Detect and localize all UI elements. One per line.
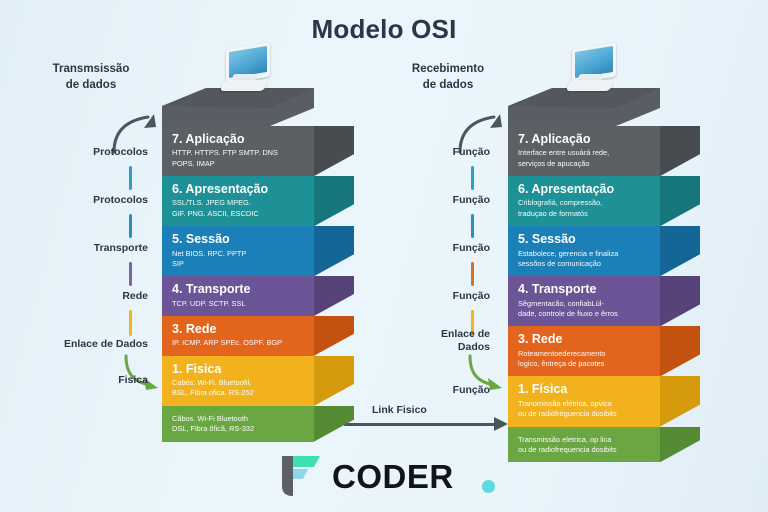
link-fisico-line xyxy=(344,423,496,426)
left-flow-title-line2: de dados xyxy=(18,78,164,94)
right-flow-title: Recebimento de dados xyxy=(392,62,504,93)
osi-layer[interactable]: 5. SessãoNet BIOS. RPC. PPTPSIP xyxy=(162,226,378,276)
left-connector-2 xyxy=(129,214,132,238)
link-fisico-group: Link Fisico xyxy=(344,406,512,430)
layer-name: 7. Aplicação xyxy=(172,132,304,146)
layer-description: HTTP. HTTPS. FTP SMTP. DNSPOPS. IMAP xyxy=(172,148,304,169)
osi-layer[interactable]: 1. FisicaCabós: Wi-Fi. Bluetoofil,BSL, F… xyxy=(162,356,378,406)
right-osi-stack: 7. AplicaçãoInterface entre usuàrá rede,… xyxy=(508,88,724,462)
left-connector-3 xyxy=(129,262,132,286)
layer-description-line: Estabolece, gerencia e finaliza xyxy=(518,249,650,259)
layer-front-face: 3. RedeRoteamentoederecamentologico, ênt… xyxy=(508,326,660,376)
layer-front-face: Transmissão eletrica, op licaou de radio… xyxy=(508,427,660,463)
layer-name: 3. Rede xyxy=(172,322,304,336)
layer-front-face: 7. AplicaçãoInterface entre usuàrá rede,… xyxy=(508,126,660,176)
layer-name: 3. Rede xyxy=(518,332,650,346)
right-label-enlace-line1: Enlace de xyxy=(384,328,490,341)
layer-description: Estabolece, gerencia e finalizasessõos d… xyxy=(518,249,650,270)
left-stack-cap xyxy=(162,88,314,126)
osi-layer[interactable]: 5. SessãoEstabolece, gerencia e finaliza… xyxy=(508,226,724,276)
layer-description-line: POPS. IMAP xyxy=(172,159,304,169)
right-flow-title-line1: Recebimento xyxy=(392,62,504,78)
left-label-protocolos-1: Protocolos xyxy=(0,146,148,159)
layer-name: 5. Sessão xyxy=(172,232,304,246)
layer-description-line: Transmissão eletrica, op lica xyxy=(518,435,650,445)
layer-side-face xyxy=(660,427,700,463)
right-connector-3 xyxy=(471,262,474,286)
layer-side-face xyxy=(660,326,700,376)
layer-name: 6. Apresentação xyxy=(172,182,304,196)
layer-front-face: 1. FisicaCabós: Wi-Fi. Bluetoofil,BSL, F… xyxy=(162,356,314,406)
monitor-icon xyxy=(218,46,276,96)
layer-description-line: dade, controle de fiuxo e êrros xyxy=(518,309,650,319)
layer-description-line: IP. ICMP. ARP SPEc. OSPF. BGP xyxy=(172,338,304,348)
layer-name: 6. Apresentação xyxy=(518,182,650,196)
layer-side-face xyxy=(314,356,354,406)
layer-description-line: ou de radiofrequencia dosibits xyxy=(518,445,650,455)
right-label-enlace-line2: Dados xyxy=(384,341,490,354)
layer-side-face xyxy=(314,226,354,276)
layer-name: 7. Aplicação xyxy=(518,132,650,146)
layer-description-line: logico, êntreça de pacotes xyxy=(518,359,650,369)
logo-text: CODER xyxy=(332,458,454,496)
layer-description-line: Criblografiá, compressão, xyxy=(518,198,650,208)
osi-layer[interactable]: 6. ApresentaçãoSSL/TLS. JPEG MPEG.GIF. P… xyxy=(162,176,378,226)
osi-layer[interactable]: 4. TransporteTCP. UDP. SCTP. SSL xyxy=(162,276,378,316)
right-label-funcao-5: Função xyxy=(384,384,490,397)
layer-side-face xyxy=(660,176,700,226)
osi-layer[interactable]: Transmissão eletrica, op licaou de radio… xyxy=(508,427,724,463)
page-title: Modelo OSI xyxy=(0,14,768,45)
left-label-rede: Rede xyxy=(0,290,148,303)
layer-name: 4. Transporte xyxy=(518,282,650,296)
layer-side-face xyxy=(314,316,354,356)
layer-description-line: TCP. UDP. SCTP. SSL xyxy=(172,299,304,309)
layer-name: 5. Sessão xyxy=(518,232,650,246)
layer-description: Cabós: Wi-Fi. Bluetoofil,BSL, Fibra ofic… xyxy=(172,378,304,399)
layer-description-line: Cãbos. Wi-Fi Bluetooth xyxy=(172,414,304,424)
osi-layer[interactable]: 1. FísicaTranomissão elétrica, opvicaou … xyxy=(508,376,724,426)
layer-description: Cãbos. Wi-Fi BluetoothDSL, Fibra õficã, … xyxy=(172,414,304,435)
layer-description-line: ou de radiófréguencia dosibits xyxy=(518,409,650,419)
layer-description: IP. ICMP. ARP SPEc. OSPF. BGP xyxy=(172,338,304,348)
osi-layer[interactable]: 7. AplicaçãoInterface entre usuàrá rede,… xyxy=(508,126,724,176)
layer-side-face xyxy=(660,276,700,326)
layer-description: Sêgmentacão, confiabLùl-dade, controle d… xyxy=(518,299,650,320)
right-stack-cap xyxy=(508,88,660,126)
osi-layer[interactable]: 3. RedeRoteamentoederecamentologico, ênt… xyxy=(508,326,724,376)
right-label-funcao-1: Função xyxy=(384,146,490,159)
osi-layer[interactable]: 3. RedeIP. ICMP. ARP SPEc. OSPF. BGP xyxy=(162,316,378,356)
osi-layer[interactable]: 6. ApresentaçãoCriblografiá, compressão,… xyxy=(508,176,724,226)
right-connector-2 xyxy=(471,214,474,238)
left-label-transporte: Transporte xyxy=(0,242,148,255)
layer-description: Transmissão eletrica, op licaou de radio… xyxy=(518,435,650,456)
right-connector-1 xyxy=(471,166,474,190)
layer-side-face xyxy=(660,376,700,426)
layer-description-line: HTTP. HTTPS. FTP SMTP. DNS xyxy=(172,148,304,158)
monitor-base xyxy=(566,80,615,91)
layer-description: Criblografiá, compressão,traduçao de for… xyxy=(518,198,650,219)
right-flow-title-line2: de dados xyxy=(392,78,504,94)
right-label-funcao-4: Função xyxy=(384,290,490,303)
right-label-enlace-de-dados: Enlace de Dados xyxy=(384,328,490,354)
left-label-protocolos-2: Protocolos xyxy=(0,194,148,207)
left-connector-4 xyxy=(129,310,132,336)
osi-layer[interactable]: Cãbos. Wi-Fi BluetoothDSL, Fibra õficã, … xyxy=(162,406,378,442)
layer-description: Interface entre usuàrá rede,serviços de … xyxy=(518,148,650,169)
right-label-funcao-2: Função xyxy=(384,194,490,207)
layer-description-line: Net BIOS. RPC. PPTP xyxy=(172,249,304,259)
layer-front-face: 3. RedeIP. ICMP. ARP SPEc. OSPF. BGP xyxy=(162,316,314,356)
left-layer-list: 7. AplicaçãoHTTP. HTTPS. FTP SMTP. DNSPO… xyxy=(162,126,378,442)
layer-front-face: Cãbos. Wi-Fi BluetoothDSL, Fibra õficã, … xyxy=(162,406,314,442)
layer-side-face xyxy=(314,276,354,316)
layer-description-line: Roteamentoederecamento xyxy=(518,349,650,359)
layer-description-line: traduçao de formatós xyxy=(518,209,650,219)
layer-front-face: 5. SessãoNet BIOS. RPC. PPTPSIP xyxy=(162,226,314,276)
layer-description: TCP. UDP. SCTP. SSL xyxy=(172,299,304,309)
monitor-base xyxy=(220,80,269,91)
left-flow-title: Transmsissão de dados xyxy=(18,62,164,93)
layer-front-face: 1. FísicaTranomissão elétrica, opvicaou … xyxy=(508,376,660,426)
layer-side-face xyxy=(314,176,354,226)
layer-front-face: 5. SessãoEstabolece, gerencia e finaliza… xyxy=(508,226,660,276)
right-label-funcao-3: Função xyxy=(384,242,490,255)
layer-description: Net BIOS. RPC. PPTPSIP xyxy=(172,249,304,270)
layer-description: Tranomissão elétrica, opvicaou de radióf… xyxy=(518,399,650,420)
brand-logo[interactable]: CODER xyxy=(276,452,506,500)
layer-side-face xyxy=(314,126,354,176)
layer-description: Roteamentoederecamentologico, êntreça de… xyxy=(518,349,650,370)
layer-front-face: 4. TransporteSêgmentacão, confiabLùl-dad… xyxy=(508,276,660,326)
layer-name: 4. Transporte xyxy=(172,282,304,296)
layer-description: SSL/TLS. JPEG MPEG.GIF. PNG. ASCII, ESCD… xyxy=(172,198,304,219)
arrow-right-icon xyxy=(494,417,508,431)
osi-layer[interactable]: 7. AplicaçãoHTTP. HTTPS. FTP SMTP. DNSPO… xyxy=(162,126,378,176)
left-connector-1 xyxy=(129,166,132,190)
right-layer-list: 7. AplicaçãoInterface entre usuàrá rede,… xyxy=(508,126,724,462)
layer-description-line: Interface entre usuàrá rede, xyxy=(518,148,650,158)
layer-side-face xyxy=(660,126,700,176)
left-label-enlace-de-dados: Enlace de Dados xyxy=(0,338,148,351)
logo-dot xyxy=(482,480,495,493)
layer-side-face xyxy=(660,226,700,276)
layer-front-face: 7. AplicaçãoHTTP. HTTPS. FTP SMTP. DNSPO… xyxy=(162,126,314,176)
layer-description-line: serviços de apucação xyxy=(518,159,650,169)
layer-front-face: 4. TransporteTCP. UDP. SCTP. SSL xyxy=(162,276,314,316)
right-flow-column: Recebimento de dados xyxy=(392,62,504,93)
fcoder-f-mark-icon xyxy=(276,454,322,498)
link-fisico-label: Link Fisico xyxy=(372,404,427,416)
monitor-icon xyxy=(564,46,622,96)
layer-description-line: GIF. PNG. ASCII, ESCDIC xyxy=(172,209,304,219)
layer-description-line: Cabós: Wi-Fi. Bluetoofil, xyxy=(172,378,304,388)
left-osi-stack: 7. AplicaçãoHTTP. HTTPS. FTP SMTP. DNSPO… xyxy=(162,88,378,442)
layer-description-line: Tranomissão elétrica, opvica xyxy=(518,399,650,409)
left-flow-column: Transmsissão de dados xyxy=(18,62,164,93)
layer-name: 1. Fisica xyxy=(172,362,304,376)
layer-description-line: BSL, Fibra ofica. RS-252 xyxy=(172,388,304,398)
layer-front-face: 6. ApresentaçãoCriblografiá, compressão,… xyxy=(508,176,660,226)
layer-name: 1. Física xyxy=(518,382,650,396)
layer-description-line: DSL, Fibra õficã, RS-332 xyxy=(172,424,304,434)
infographic-canvas: Modelo OSI Transmsissão de dados Protoco… xyxy=(0,0,768,512)
layer-front-face: 6. ApresentaçãoSSL/TLS. JPEG MPEG.GIF. P… xyxy=(162,176,314,226)
layer-description-line: Sêgmentacão, confiabLùl- xyxy=(518,299,650,309)
layer-description-line: SIP xyxy=(172,259,304,269)
layer-description-line: SSL/TLS. JPEG MPEG. xyxy=(172,198,304,208)
left-flow-title-line1: Transmsissão xyxy=(18,62,164,78)
osi-layer[interactable]: 4. TransporteSêgmentacão, confiabLùl-dad… xyxy=(508,276,724,326)
left-label-fisica: Fisica xyxy=(0,374,148,387)
layer-description-line: sessõos de comunicação xyxy=(518,259,650,269)
